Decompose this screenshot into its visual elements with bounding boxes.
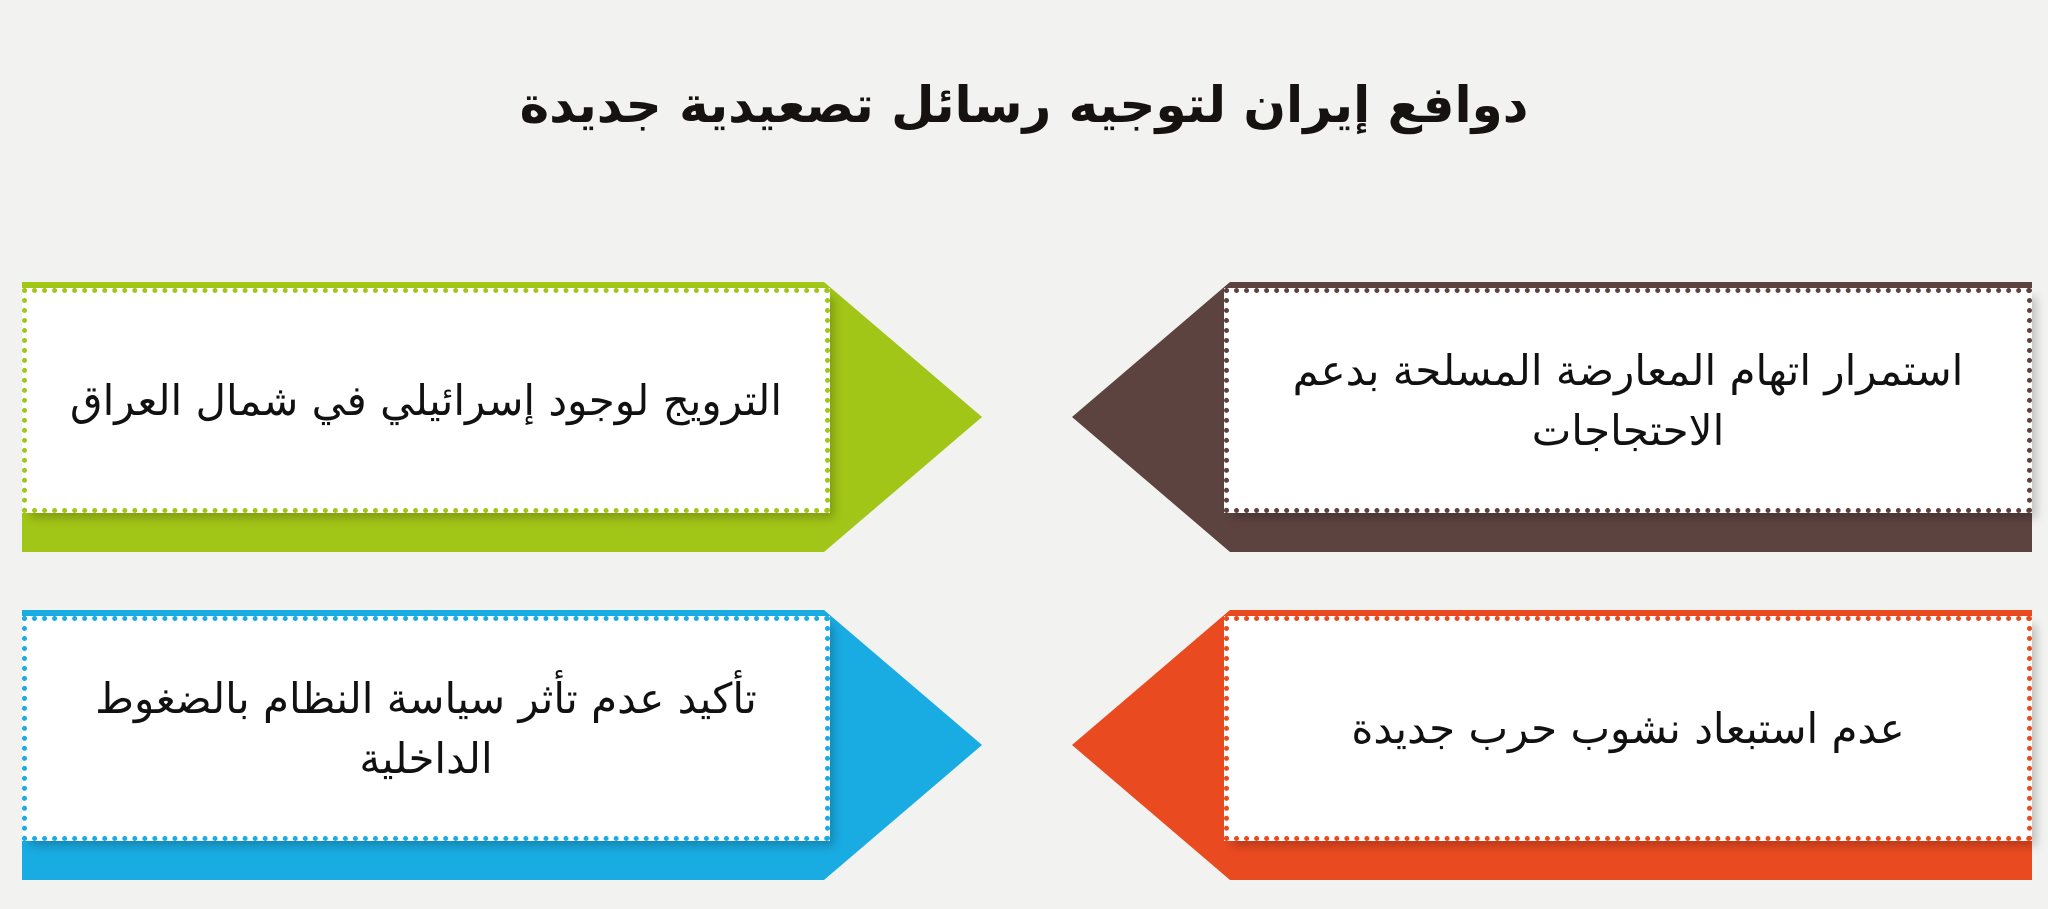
block-bottom-left: تأكيد عدم تأثر سياسة النظام بالضغوط الدا…	[22, 600, 982, 890]
card-top-right: استمرار اتهام المعارضة المسلحة بدعم الاح…	[1224, 288, 2032, 513]
block-top-left: الترويج لوجود إسرائيلي في شمال العراق	[22, 272, 982, 562]
card-bottom-left-inner: تأكيد عدم تأثر سياسة النظام بالضغوط الدا…	[27, 621, 825, 836]
block-bottom-right: عدم استبعاد نشوب حرب جديدة	[1072, 600, 2032, 890]
card-top-left-text: الترويج لوجود إسرائيلي في شمال العراق	[70, 371, 782, 431]
block-top-right: استمرار اتهام المعارضة المسلحة بدعم الاح…	[1072, 272, 2032, 562]
card-bottom-right-text: عدم استبعاد نشوب حرب جديدة	[1351, 699, 1904, 759]
card-top-right-inner: استمرار اتهام المعارضة المسلحة بدعم الاح…	[1229, 293, 2027, 508]
card-bottom-right-inner: عدم استبعاد نشوب حرب جديدة	[1229, 621, 2027, 836]
card-top-left: الترويج لوجود إسرائيلي في شمال العراق	[22, 288, 830, 513]
infographic-canvas: دوافع إيران لتوجيه رسائل تصعيدية جديدة ا…	[0, 0, 2048, 909]
card-bottom-left: تأكيد عدم تأثر سياسة النظام بالضغوط الدا…	[22, 616, 830, 841]
card-bottom-right: عدم استبعاد نشوب حرب جديدة	[1224, 616, 2032, 841]
card-top-right-text: استمرار اتهام المعارضة المسلحة بدعم الاح…	[1255, 341, 2001, 460]
page-title: دوافع إيران لتوجيه رسائل تصعيدية جديدة	[0, 78, 2048, 133]
card-top-left-inner: الترويج لوجود إسرائيلي في شمال العراق	[27, 293, 825, 508]
card-bottom-left-text: تأكيد عدم تأثر سياسة النظام بالضغوط الدا…	[53, 669, 799, 788]
